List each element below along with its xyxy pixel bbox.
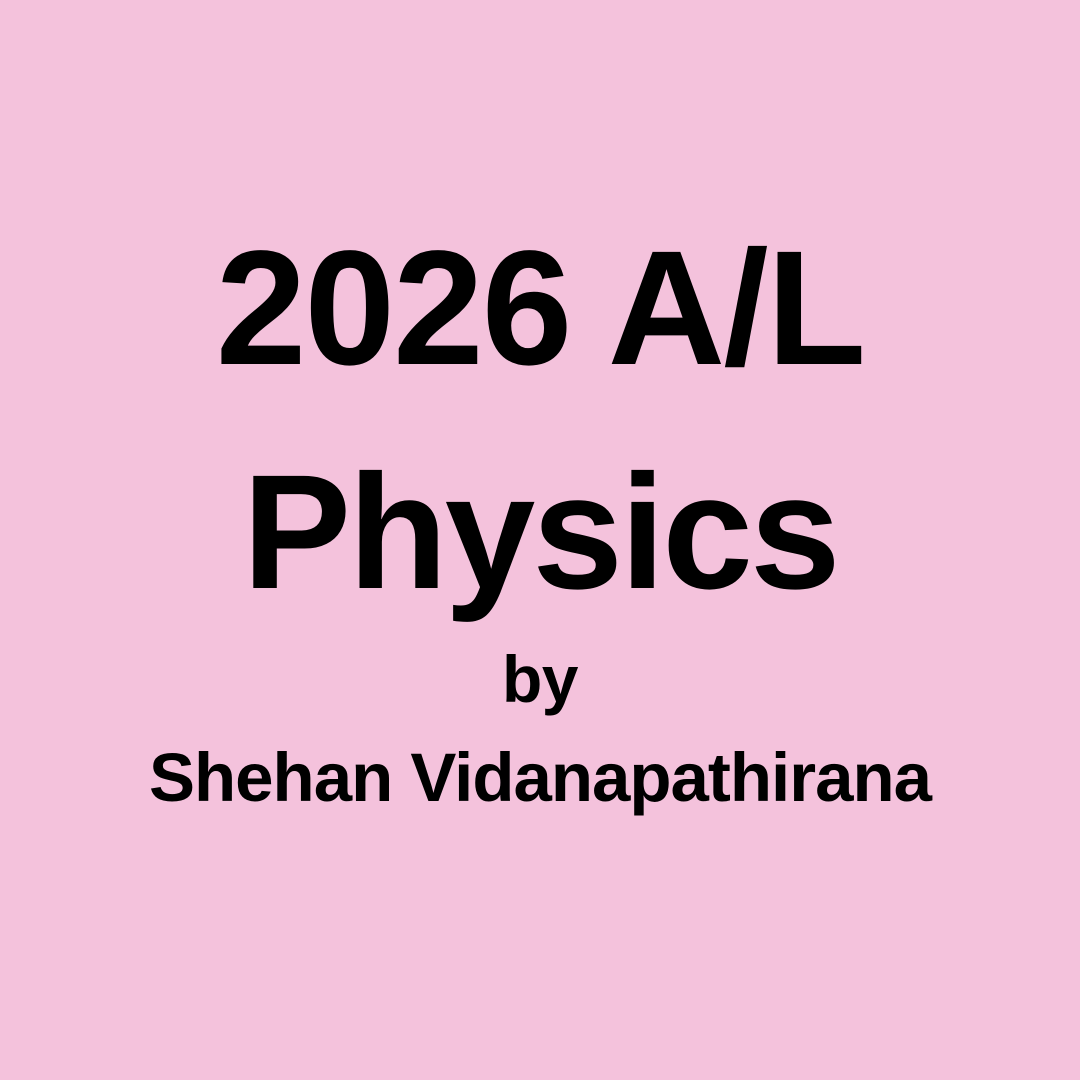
author-name: Shehan Vidanapathirana: [0, 736, 1080, 820]
title-line-year-exam: 2026 A/L: [0, 196, 1080, 420]
title-line-subject: Physics: [0, 420, 1080, 644]
poster-title: 2026 A/L Physics: [0, 196, 1080, 644]
byline-preposition: by: [0, 638, 1080, 720]
poster-canvas: 2026 A/L Physics by Shehan Vidanapathira…: [0, 0, 1080, 1080]
poster-byline: by Shehan Vidanapathirana: [0, 638, 1080, 820]
